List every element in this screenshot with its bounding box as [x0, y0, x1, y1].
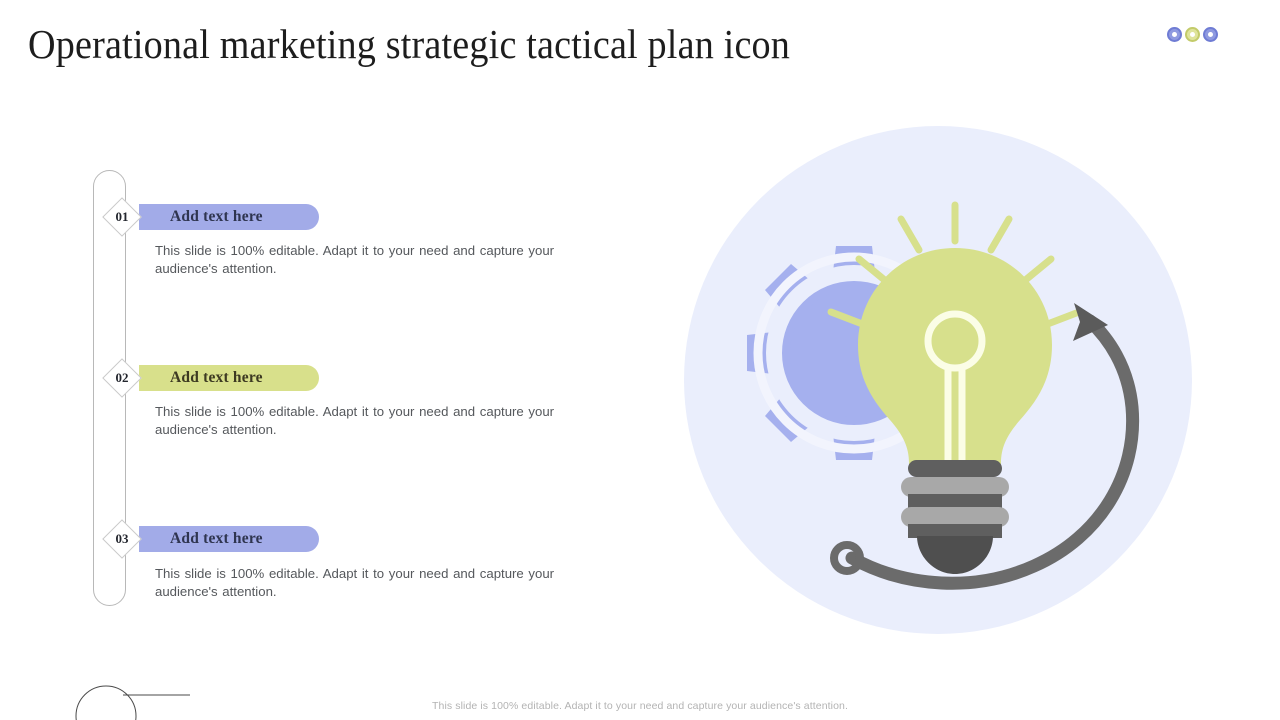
badge-label-01: Add text here — [170, 208, 263, 226]
item-description-01: This slide is 100% editable. Adapt it to… — [155, 242, 591, 278]
header-dot-group — [1167, 27, 1218, 42]
badge-02[interactable]: Add text here — [139, 365, 319, 391]
item-number-02: 02 — [108, 364, 136, 392]
item-number-03: 03 — [108, 525, 136, 553]
page-title: Operational marketing strategic tactical… — [28, 20, 865, 68]
item-description-02: This slide is 100% editable. Adapt it to… — [155, 403, 591, 439]
badge-label-02: Add text here — [170, 369, 263, 387]
badge-03[interactable]: Add text here — [139, 526, 319, 552]
badge-01[interactable]: Add text here — [139, 204, 319, 230]
item-description-03: This slide is 100% editable. Adapt it to… — [155, 565, 591, 601]
lightbulb-gear-arrow-illustration — [676, 126, 1200, 634]
dot-blue-left-icon — [1167, 27, 1182, 42]
item-number-01: 01 — [108, 203, 136, 231]
decorative-circle-line — [58, 672, 258, 720]
slide-root: Operational marketing strategic tactical… — [0, 0, 1280, 720]
badge-label-03: Add text here — [170, 530, 263, 548]
dot-green-middle-icon — [1185, 27, 1200, 42]
dot-blue-right-icon — [1203, 27, 1218, 42]
footer-note: This slide is 100% editable. Adapt it to… — [0, 700, 1280, 712]
